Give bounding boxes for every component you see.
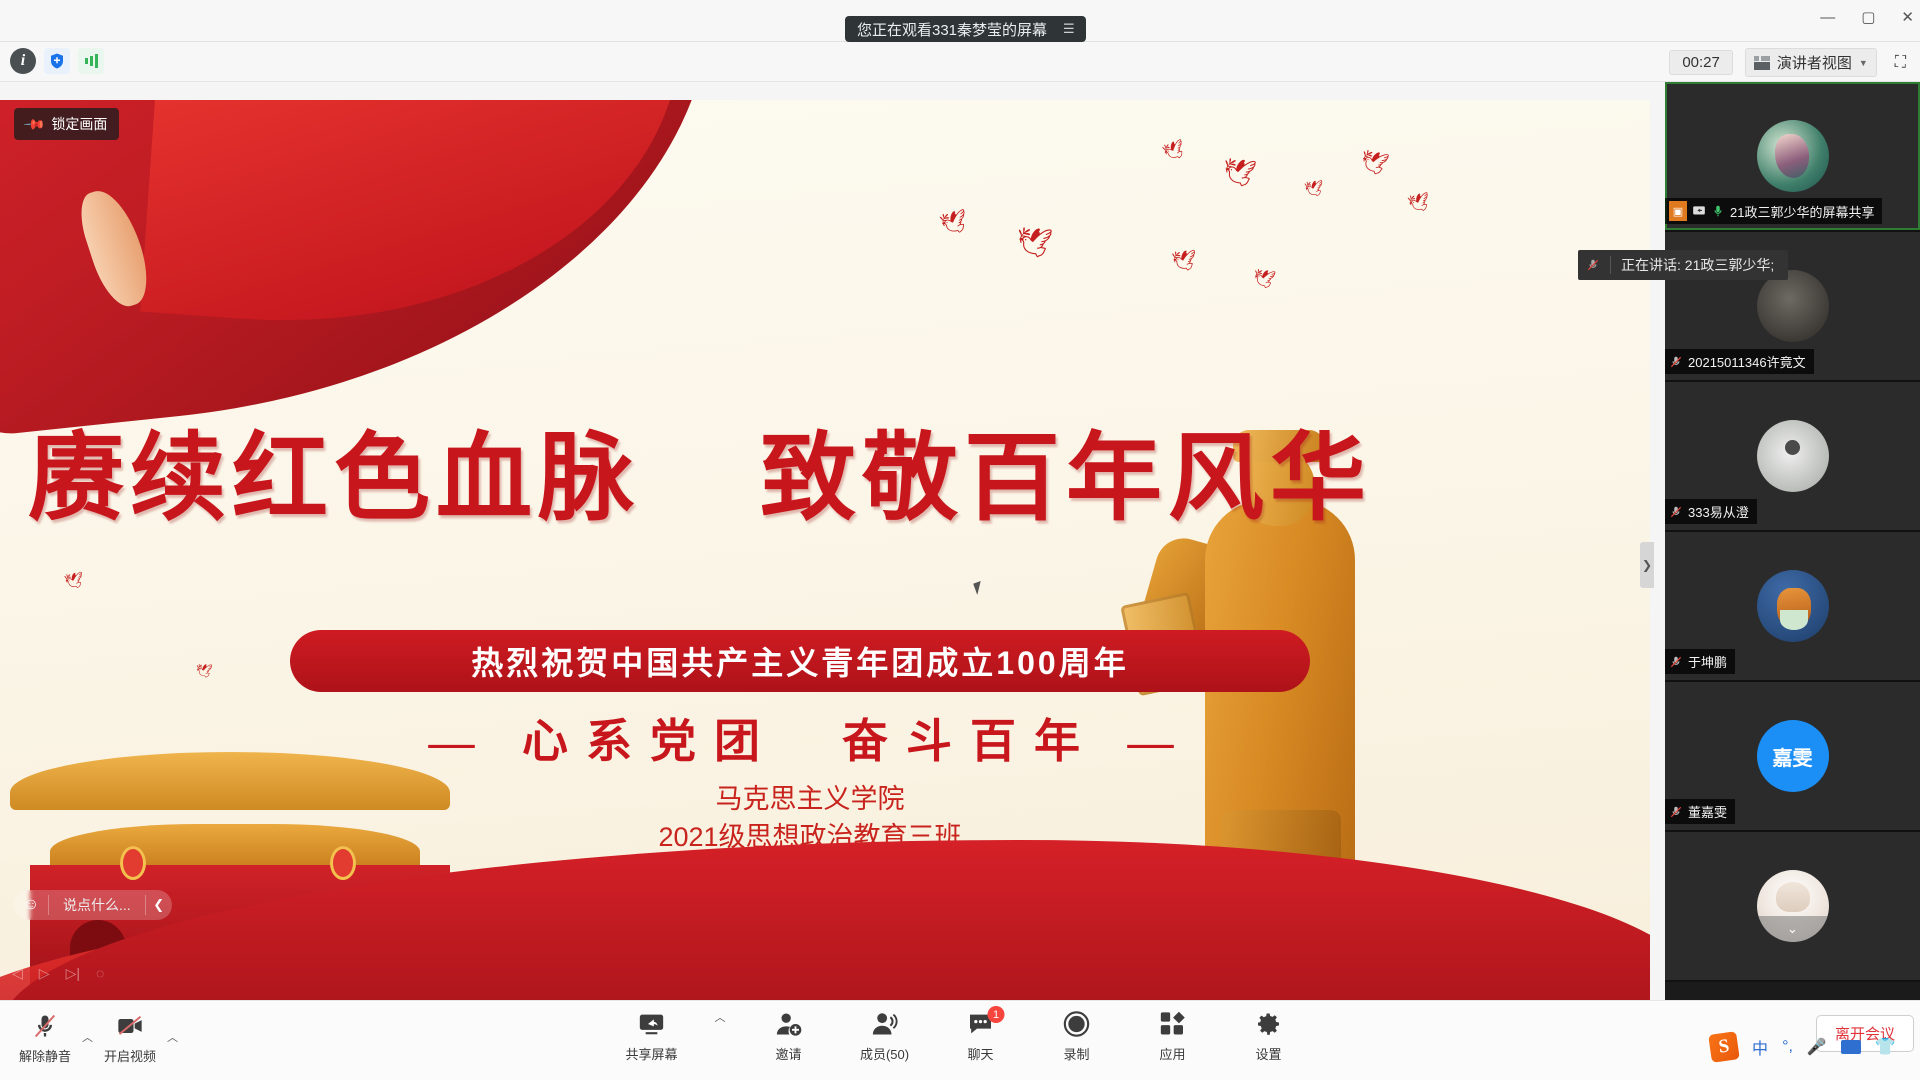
share-screen-icon	[638, 1009, 666, 1039]
apps-icon	[1159, 1009, 1187, 1039]
record-label: 录制	[1063, 1044, 1089, 1063]
invite-label: 邀请	[775, 1044, 801, 1063]
play-icon[interactable]: ▷	[39, 965, 50, 982]
bird-icon: 🕊	[938, 209, 970, 236]
skin-icon[interactable]: 👕	[1875, 1037, 1896, 1057]
watching-label: 您正在观看331秦梦莹的屏幕	[857, 19, 1047, 40]
chevron-down-icon: ▼	[1859, 58, 1868, 68]
gear-icon	[1255, 1009, 1283, 1039]
participants-icon	[871, 1009, 899, 1039]
shield-icon[interactable]	[44, 48, 70, 74]
participant-name: 333易从澄	[1688, 502, 1749, 521]
chat-button[interactable]: 1 聊天	[948, 1009, 1014, 1063]
participant-namebar: 于坤鹏	[1665, 649, 1735, 674]
camera-off-icon	[116, 1011, 144, 1041]
speaking-text: 正在讲话: 21政三郭少华;	[1621, 255, 1774, 275]
participants-label: 成员(50)	[860, 1044, 909, 1063]
sogou-logo-icon[interactable]: S	[1708, 1031, 1740, 1063]
sogou-ime-bar[interactable]: S 中 °, 🎤 👕	[1710, 1033, 1896, 1061]
bird-icon: 🕊	[1406, 192, 1431, 213]
apps-label: 应用	[1159, 1044, 1185, 1063]
sub-toolbar: i 00:27 演讲者视图 ▼ ⛶	[0, 42, 1920, 82]
ime-mode-toggle[interactable]: 中	[1752, 1035, 1768, 1059]
participant-name: 21政三郭少华的屏幕共享	[1730, 202, 1874, 221]
avatar	[1757, 570, 1829, 642]
apps-button[interactable]: 应用	[1140, 1009, 1206, 1063]
mic-muted-icon	[31, 1011, 59, 1041]
mic-muted-icon	[1586, 258, 1600, 272]
status-icons: i	[10, 48, 104, 74]
bird-icon: 🕊	[1304, 180, 1325, 197]
bottom-toolbar: 解除静音 ︿ 开启视频 ︿ 共享屏幕 ︿	[0, 1000, 1920, 1080]
lock-screen-button[interactable]: 📌 锁定画面	[14, 108, 119, 140]
minimize-button[interactable]: —	[1820, 10, 1835, 25]
participant-name: 董嘉雯	[1688, 802, 1727, 821]
title-bar: 您正在观看331秦梦莹的屏幕 ☰ — ▢ ✕	[0, 0, 1920, 42]
overlay-collapse-icon[interactable]: ❮	[146, 897, 172, 913]
bird-icon: 🕊	[1221, 158, 1258, 189]
main-actions: 共享屏幕 ︿ 邀请 成员(50) 1 聊天	[619, 1009, 1302, 1063]
view-mode-label: 演讲者视图	[1777, 52, 1852, 73]
mute-button[interactable]: 解除静音	[12, 1011, 78, 1065]
participant-tile[interactable]: ⌄	[1665, 832, 1920, 982]
stage-area: 🕊 🕊 🕊 🕊 🕊 🕊 🕊 🕊 🕊 🕊 🕊 赓续红色血脉 致敬百年风华 热烈祝贺…	[0, 82, 1920, 1000]
bird-icon: 🕊	[195, 664, 213, 678]
participant-tile[interactable]: 于坤鹏	[1665, 532, 1920, 682]
mini-player-controls[interactable]: ◁ ▷ ▷| ◌	[12, 965, 104, 982]
bird-icon: 🕊	[1014, 227, 1053, 259]
participants-button[interactable]: 成员(50)	[852, 1009, 918, 1063]
mic-options-chevron[interactable]: ︿	[82, 1029, 93, 1065]
participant-tile[interactable]: 嘉雯 董嘉雯	[1665, 682, 1920, 832]
participant-name: 于坤鹏	[1688, 652, 1727, 671]
share-screen-button[interactable]: 共享屏幕	[619, 1009, 685, 1063]
speaking-toast: 正在讲话: 21政三郭少华;	[1578, 250, 1788, 280]
share-options-chevron[interactable]: ︿	[715, 1009, 726, 1045]
prev-icon[interactable]: ◁	[12, 965, 23, 982]
video-label: 开启视频	[104, 1046, 156, 1065]
participant-namebar: 董嘉雯	[1665, 799, 1735, 824]
chevron-down-icon: ⌄	[1757, 916, 1829, 942]
participant-name: 20215011346许竟文	[1688, 352, 1806, 371]
participant-tile[interactable]: ▣ 21政三郭少华的屏幕共享	[1665, 82, 1920, 232]
video-button[interactable]: 开启视频	[97, 1011, 163, 1065]
mic-muted-icon	[1669, 805, 1683, 819]
share-indicator-icon: ▣	[1669, 201, 1687, 221]
overlay-chat-input[interactable]: ☺ 说点什么... ❮	[14, 890, 172, 920]
slide-headline: 赓续红色血脉 致敬百年风华	[0, 400, 1400, 539]
fullscreen-icon[interactable]: ⛶	[1889, 54, 1912, 72]
lock-screen-label: 锁定画面	[51, 114, 107, 134]
avatar	[1757, 420, 1829, 492]
mic-icon	[1711, 204, 1725, 218]
avatar-initials: 嘉雯	[1773, 742, 1813, 771]
participant-namebar: 333易从澄	[1665, 499, 1757, 524]
view-mode-selector[interactable]: 演讲者视图 ▼	[1745, 48, 1877, 77]
video-options-chevron[interactable]: ︿	[167, 1029, 178, 1065]
screen-share-icon	[1692, 204, 1706, 218]
loop-icon[interactable]: ◌	[96, 965, 104, 982]
bird-icon: 🕊	[1251, 268, 1276, 289]
watching-banner: 您正在观看331秦梦莹的屏幕 ☰	[845, 16, 1086, 42]
hamburger-icon[interactable]: ☰	[1063, 21, 1076, 37]
maximize-button[interactable]: ▢	[1861, 10, 1875, 25]
participant-namebar: ▣ 21政三郭少华的屏幕共享	[1665, 198, 1882, 224]
bird-icon: 🕊	[1358, 149, 1390, 177]
bird-icon: 🕊	[63, 572, 85, 590]
av-controls: 解除静音 ︿ 开启视频 ︿	[12, 1011, 178, 1065]
window-controls: — ▢ ✕	[1820, 10, 1914, 25]
toolbar-right: 00:27 演讲者视图 ▼ ⛶	[1669, 48, 1912, 77]
shared-screen[interactable]: 🕊 🕊 🕊 🕊 🕊 🕊 🕊 🕊 🕊 🕊 🕊 赓续红色血脉 致敬百年风华 热烈祝贺…	[0, 100, 1650, 1000]
invite-icon	[775, 1009, 803, 1039]
microphone-icon[interactable]: 🎤	[1807, 1037, 1827, 1057]
settings-button[interactable]: 设置	[1236, 1009, 1302, 1063]
slide-ribbon: 热烈祝贺中国共产主义青年团成立100周年	[290, 630, 1310, 692]
mic-muted-icon	[1669, 355, 1683, 369]
chat-unread-badge: 1	[988, 1006, 1005, 1023]
bird-icon: 🕊	[1161, 139, 1188, 163]
bird-icon: 🕊	[1171, 250, 1197, 271]
avatar: 嘉雯	[1757, 720, 1829, 792]
avatar: ⌄	[1757, 870, 1829, 942]
meeting-window: 您正在观看331秦梦莹的屏幕 ☰ — ▢ ✕ i 00:27 演讲者视图 ▼	[0, 0, 1920, 1080]
ime-punctuation-toggle[interactable]: °,	[1782, 1038, 1793, 1056]
record-button[interactable]: 录制	[1044, 1009, 1110, 1063]
meeting-timer: 00:27	[1669, 50, 1733, 75]
keyboard-icon[interactable]	[1841, 1040, 1861, 1054]
pin-icon: 📌	[23, 112, 47, 136]
mute-label: 解除静音	[19, 1046, 71, 1065]
mic-muted-icon	[1669, 655, 1683, 669]
participant-tile[interactable]: 333易从澄	[1665, 382, 1920, 532]
overlay-chat-placeholder[interactable]: 说点什么...	[48, 895, 146, 915]
avatar	[1757, 270, 1829, 342]
info-icon[interactable]: i	[10, 48, 36, 74]
next-icon[interactable]: ▷|	[66, 965, 80, 982]
share-screen-label: 共享屏幕	[625, 1044, 677, 1063]
smiley-icon[interactable]: ☺	[14, 896, 48, 914]
mic-muted-icon	[1669, 505, 1683, 519]
chat-label: 聊天	[967, 1044, 993, 1063]
close-button[interactable]: ✕	[1901, 10, 1914, 25]
avatar	[1757, 120, 1829, 192]
settings-label: 设置	[1255, 1044, 1281, 1063]
signal-icon[interactable]	[78, 48, 104, 74]
panel-collapse-handle[interactable]: ❯	[1640, 542, 1654, 588]
invite-button[interactable]: 邀请	[756, 1009, 822, 1063]
record-icon	[1063, 1009, 1091, 1039]
participant-namebar: 20215011346许竟文	[1665, 349, 1814, 374]
layout-icon	[1754, 56, 1770, 70]
participant-filmstrip[interactable]: ▣ 21政三郭少华的屏幕共享 20215011346许竟文	[1665, 82, 1920, 1000]
